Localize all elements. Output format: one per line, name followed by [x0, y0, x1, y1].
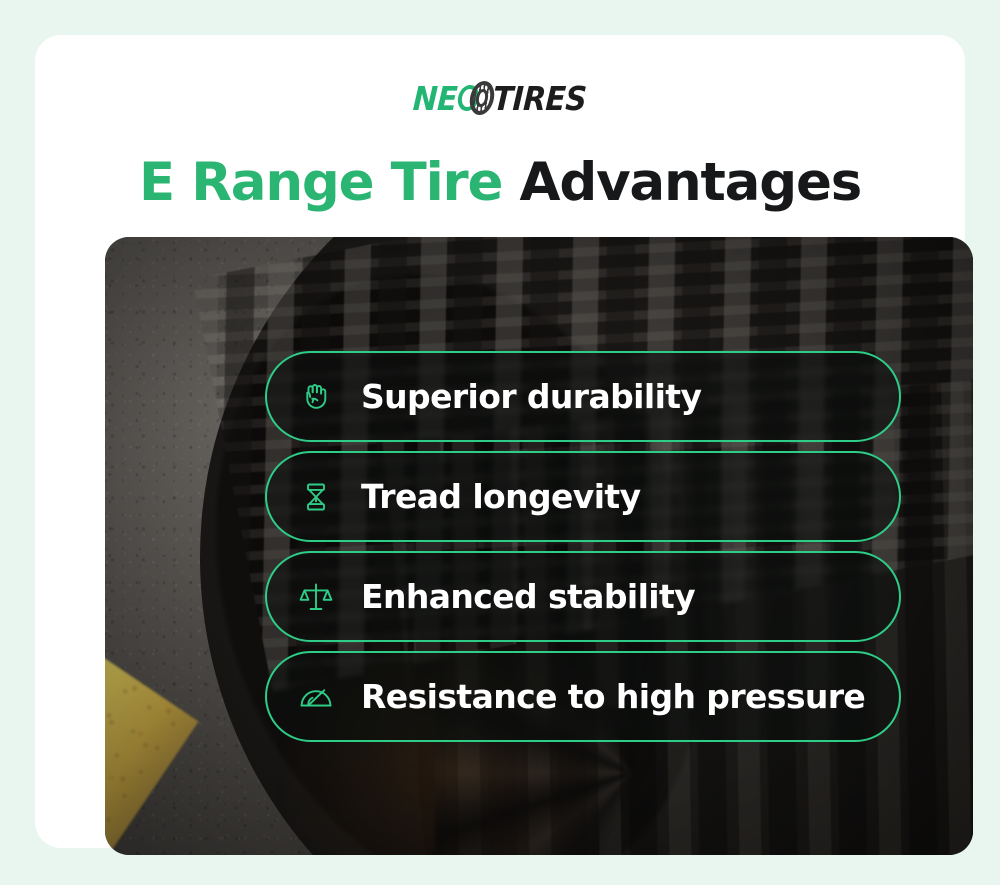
- fist-icon: [293, 374, 339, 420]
- white-card: NE TIRES E Range Tire Advantages: [35, 35, 965, 848]
- logo-text-neo: NE: [412, 82, 458, 115]
- advantage-item-resistance-high-pressure[interactable]: Resistance to high pressure: [265, 651, 901, 742]
- page-title-dark: Advantages: [520, 152, 862, 213]
- advantage-label: Superior durability: [361, 377, 701, 416]
- advantages-list: Superior durability Tread longevity: [265, 351, 901, 742]
- scales-icon: [293, 574, 339, 620]
- page-title-accent: E Range Tire: [139, 152, 502, 213]
- advantage-item-superior-durability[interactable]: Superior durability: [265, 351, 901, 442]
- page-title: E Range Tire Advantages: [35, 153, 965, 214]
- advantage-label: Resistance to high pressure: [361, 677, 865, 716]
- gauge-icon: [293, 674, 339, 720]
- hourglass-icon: [293, 474, 339, 520]
- brand-logo[interactable]: NE TIRES: [35, 75, 965, 121]
- advantage-label: Tread longevity: [361, 477, 641, 516]
- infographic-canvas: NE TIRES E Range Tire Advantages: [0, 0, 1000, 885]
- advantage-item-enhanced-stability[interactable]: Enhanced stability: [265, 551, 901, 642]
- advantage-label: Enhanced stability: [361, 577, 695, 616]
- logo-text-tires: TIRES: [493, 82, 588, 115]
- offroad-tire-photo: Superior durability Tread longevity: [105, 237, 973, 855]
- advantage-item-tread-longevity[interactable]: Tread longevity: [265, 451, 901, 542]
